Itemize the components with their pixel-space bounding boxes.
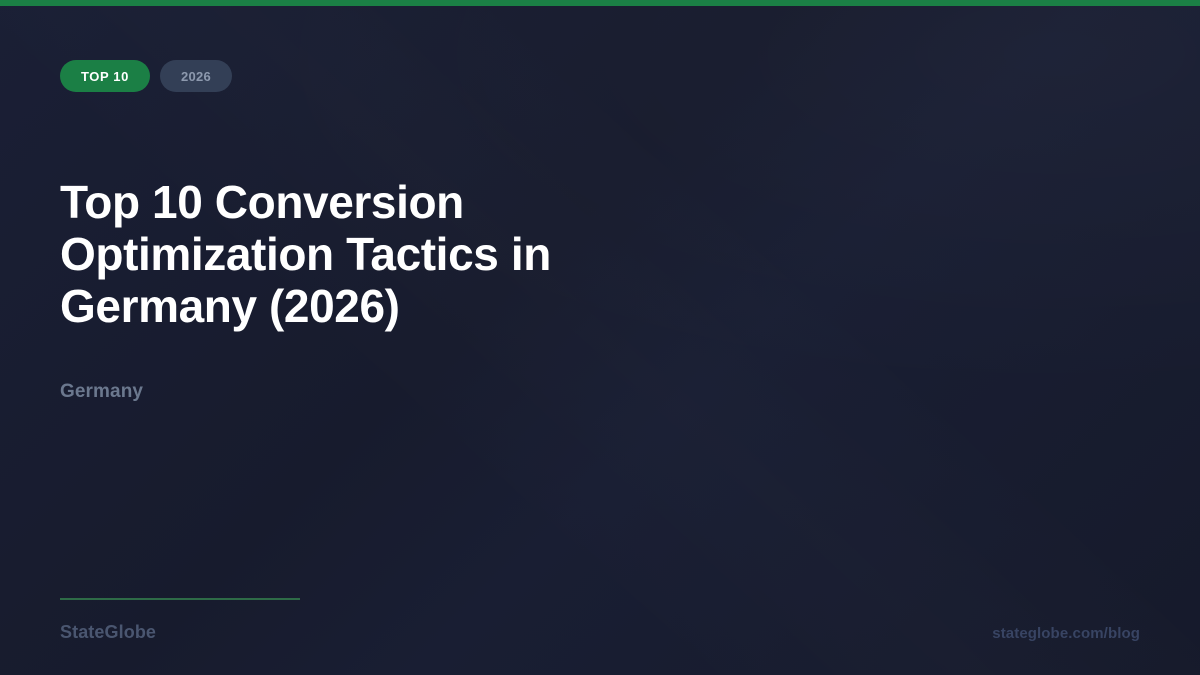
page-title: Top 10 Conversion Optimization Tactics i… (60, 176, 645, 332)
year-badge[interactable]: 2026 (160, 60, 232, 92)
top-accent-bar (0, 0, 1200, 6)
slide-canvas: TOP 10 2026 Top 10 Conversion Optimizati… (0, 0, 1200, 675)
page-subtitle: Germany (60, 381, 143, 403)
rank-badge[interactable]: TOP 10 (60, 60, 150, 92)
footer-divider (60, 598, 300, 600)
slide-content: TOP 10 2026 Top 10 Conversion Optimizati… (0, 0, 1200, 675)
footer-url[interactable]: stateglobe.com/blog (992, 625, 1140, 642)
badge-group: TOP 10 2026 (60, 60, 232, 92)
footer-brand: StateGlobe (60, 622, 156, 643)
